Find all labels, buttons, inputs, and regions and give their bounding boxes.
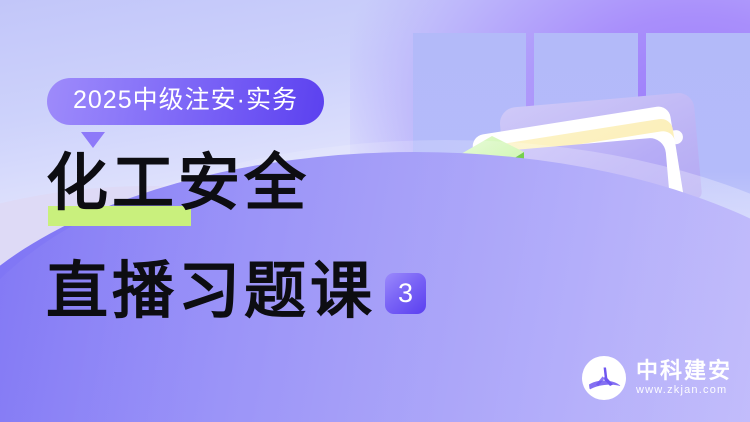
course-tag: 2025中级注安·实务 bbox=[47, 78, 324, 125]
brand-name: 中科建安 bbox=[636, 360, 732, 382]
course-tag-label: 2025中级注安·实务 bbox=[47, 78, 324, 125]
headline-line-1: 化工安全 bbox=[46, 152, 466, 230]
headline-line-2-text: 直播习题课 bbox=[46, 260, 376, 322]
headline-line-1-text: 化工安全 bbox=[46, 146, 310, 219]
zkjan-logo-mark-icon bbox=[582, 356, 626, 400]
brand-logo-text: 中科建安 www.zkjan.com bbox=[636, 360, 732, 396]
brand-logo: 中科建安 www.zkjan.com bbox=[582, 356, 732, 400]
headline-line-2: 直播习题课 3 bbox=[46, 244, 466, 322]
episode-number-badge: 3 bbox=[385, 273, 426, 314]
brand-url: www.zkjan.com bbox=[636, 385, 732, 396]
headline: 化工安全 直播习题课 3 bbox=[46, 152, 466, 322]
course-banner: 2025中级注安·实务 化工安全 直播习题课 3 bbox=[0, 0, 750, 422]
